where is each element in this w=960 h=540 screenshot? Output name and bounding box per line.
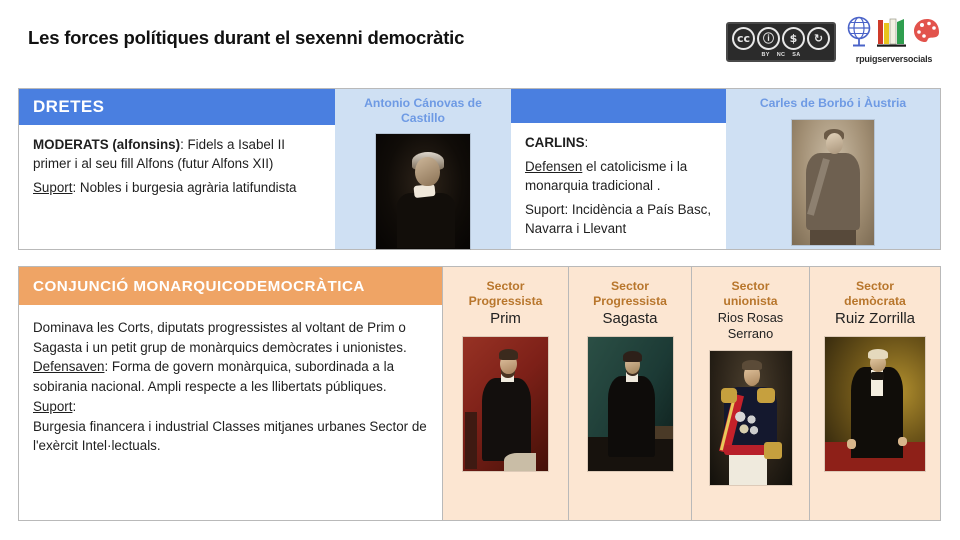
rios-name-line1: Rios Rosas — [718, 310, 783, 325]
canovas-caption: Antonio Cánovas de Castillo — [335, 96, 511, 127]
site-logo-icons — [846, 21, 942, 53]
cc-nc-icon: $ — [782, 27, 805, 50]
zorrilla-sector-line1: Sector — [856, 279, 894, 294]
carles-column: Carles de Borbó i Àustria — [726, 89, 940, 249]
site-logo[interactable]: rpuigserversocials — [846, 21, 942, 64]
rios-name-line2: Serrano — [728, 326, 774, 341]
cc-icon: cc — [732, 27, 755, 50]
conjuncio-para-3: Suport: — [33, 397, 432, 417]
site-logo-label: rpuigserversocials — [856, 54, 932, 64]
portrait-rios-rosas-serrano — [710, 351, 792, 485]
portrait-sagasta — [588, 337, 673, 471]
carlins-title-rest: : — [585, 135, 589, 150]
conjuncio-para-1: Dominava les Corts, diputats progressist… — [33, 318, 432, 357]
page-title: Les forces polítiques durant el sexenni … — [28, 27, 464, 49]
conjuncio-row: CONJUNCIÓ MONARQUICODEMOCRÀTICA Dominava… — [18, 266, 941, 521]
carlins-text-panel: CARLINS: Defensen el catolicisme i la mo… — [511, 89, 726, 249]
cc-label-sa: SA — [792, 52, 800, 58]
moderats-title: MODERATS (alfonsins) — [33, 137, 180, 152]
sagasta-sector-line1: Sector — [611, 279, 649, 294]
prim-name: Prim — [490, 310, 521, 328]
cc-by-icon: ⓘ — [757, 27, 780, 50]
conjuncio-body: Dominava les Corts, diputats progressist… — [19, 305, 442, 520]
canovas-column: Antonio Cánovas de Castillo — [335, 89, 511, 249]
carlins-title: CARLINS — [525, 135, 585, 150]
conjuncio-band-label: CONJUNCIÓ MONARQUICODEMOCRÀTICA — [19, 278, 365, 295]
prim-column: Sector Progressista Prim — [442, 267, 568, 520]
carlins-body: CARLINS: Defensen el catolicisme i la mo… — [511, 123, 726, 249]
dretes-row: DRETES MODERATS (alfonsins): Fidels a Is… — [18, 88, 941, 250]
cc-sa-icon: ↻ — [807, 27, 830, 50]
carlins-line-2: Suport: Incidència a País Basc, Navarra … — [525, 200, 714, 238]
prim-sector-line2: Progressista — [469, 294, 543, 309]
slide-header: Les forces polítiques durant el sexenni … — [0, 0, 960, 80]
books-icon — [877, 16, 907, 53]
conjuncio-text-panel: CONJUNCIÓ MONARQUICODEMOCRÀTICA Dominava… — [19, 267, 442, 520]
carles-caption: Carles de Borbó i Àustria — [754, 96, 912, 111]
moderats-line-2: Suport: Nobles i burgesia agrària latifu… — [33, 178, 323, 197]
conjuncio-band: CONJUNCIÓ MONARQUICODEMOCRÀTICA — [19, 267, 442, 305]
moderats-body: MODERATS (alfonsins): Fidels a Isabel II… — [19, 125, 335, 249]
conjuncio-para-4: Burgesia financera i industrial Classes … — [33, 417, 432, 456]
moderats-suport-label: Suport — [33, 180, 72, 195]
sagasta-sector-line2: Progressista — [593, 294, 667, 309]
prim-sector-line1: Sector — [487, 279, 525, 294]
palette-icon — [912, 16, 942, 53]
carlins-title-line: CARLINS: — [525, 133, 714, 152]
cc-label-by: BY — [761, 52, 769, 58]
cc-icon-row: cc ⓘ $ ↻ — [732, 27, 830, 50]
carlins-band — [511, 89, 726, 123]
zorrilla-name: Ruiz Zorrilla — [835, 310, 915, 328]
globe-icon — [846, 16, 872, 53]
suport-rest: : — [72, 399, 76, 414]
portrait-carles — [792, 120, 874, 245]
zorrilla-sector-line2: demòcrata — [844, 294, 906, 309]
cc-license-badge[interactable]: cc ⓘ $ ↻ BY NC SA — [726, 22, 836, 62]
portrait-prim — [463, 337, 548, 471]
portrait-ruiz-zorrilla — [825, 337, 925, 471]
ruiz-zorrilla-column: Sector demòcrata Ruiz Zorrilla — [809, 267, 940, 520]
sagasta-column: Sector Progressista Sagasta — [568, 267, 691, 520]
rios-sector-line1: Sector — [732, 279, 770, 294]
carlins-defensen-label: Defensen — [525, 159, 582, 174]
dretes-band: DRETES — [19, 89, 335, 125]
dretes-band-label: DRETES — [19, 97, 104, 117]
moderats-line-1: MODERATS (alfonsins): Fidels a Isabel II… — [33, 135, 323, 173]
cc-label-row: BY NC SA — [761, 51, 800, 58]
conjuncio-para-2: Defensaven: Forma de govern monàrquica, … — [33, 357, 432, 396]
suport-label: Suport — [33, 399, 72, 414]
defensaven-label: Defensaven — [33, 359, 104, 374]
dretes-text-panel: DRETES MODERATS (alfonsins): Fidels a Is… — [19, 89, 335, 249]
rios-rosas-serrano-column: Sector unionista Rios Rosas Serrano — [691, 267, 809, 520]
sagasta-name: Sagasta — [602, 310, 657, 328]
portrait-canovas — [376, 134, 470, 249]
moderats-suport-rest: : Nobles i burgesia agrària latifundista — [72, 180, 296, 195]
rios-sector-line2: unionista — [723, 294, 777, 309]
logo-area: cc ⓘ $ ↻ BY NC SA — [726, 14, 942, 70]
carlins-line-1: Defensen el catolicisme i la monarquia t… — [525, 157, 714, 195]
cc-label-nc: NC — [777, 52, 786, 58]
